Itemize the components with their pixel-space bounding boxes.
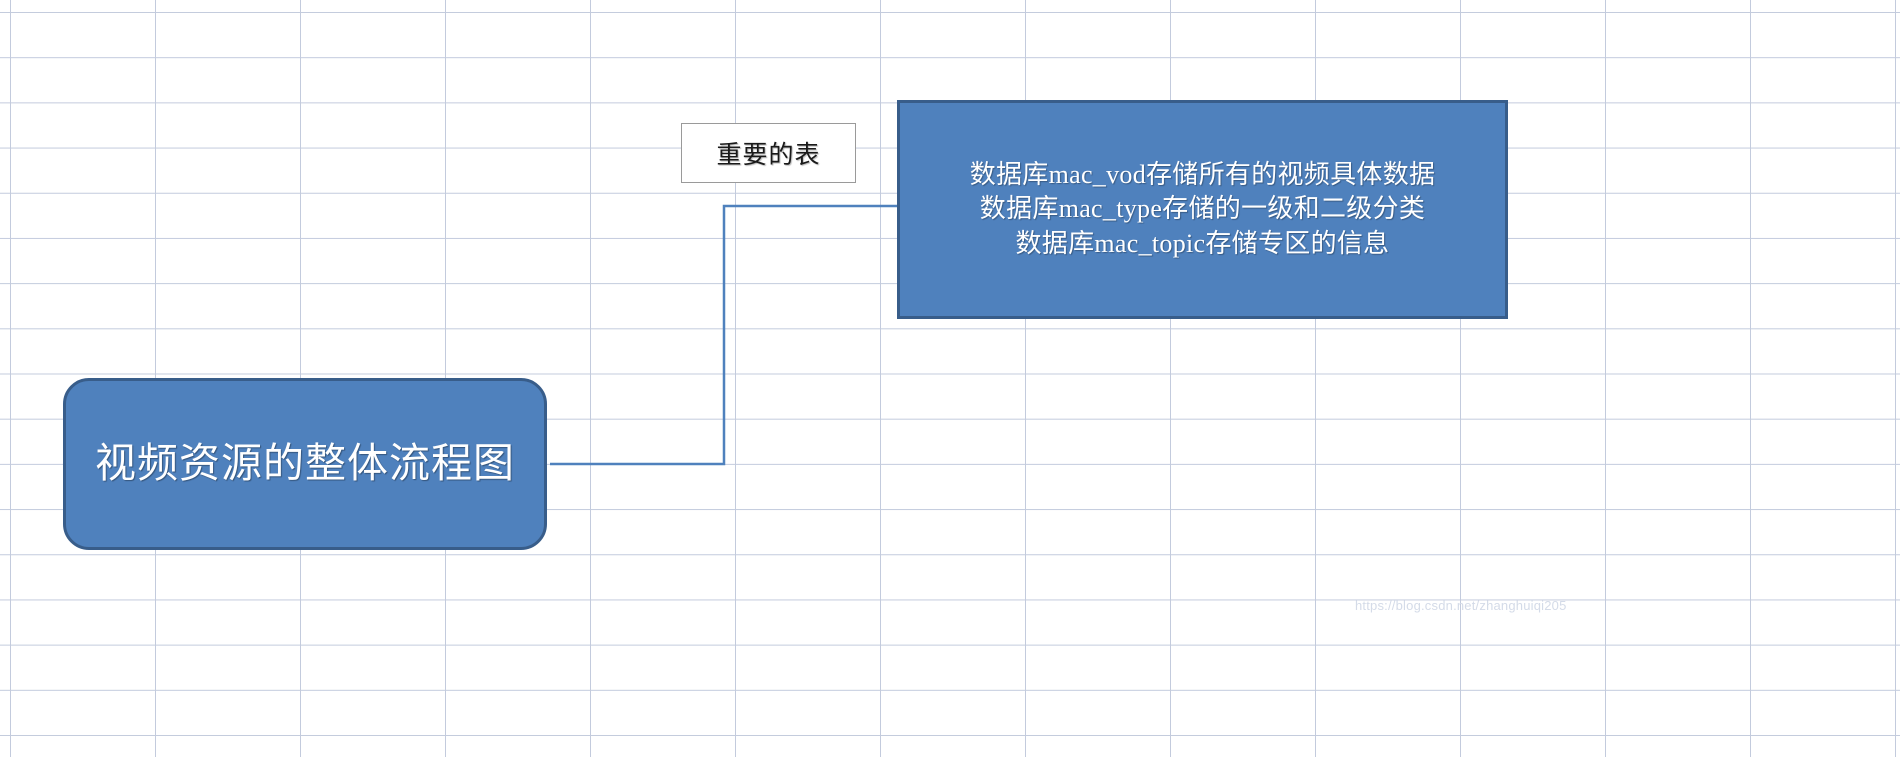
detail-line-1: 数据库mac_vod存储所有的视频具体数据 bbox=[970, 158, 1436, 193]
node-database-detail-text: 数据库mac_vod存储所有的视频具体数据 数据库mac_type存储的一级和二… bbox=[970, 158, 1436, 262]
node-database-detail[interactable]: 数据库mac_vod存储所有的视频具体数据 数据库mac_type存储的一级和二… bbox=[897, 100, 1508, 319]
node-start-flowchart[interactable]: 视频资源的整体流程图 bbox=[63, 378, 547, 550]
diagram-canvas: 视频资源的整体流程图 重要的表 数据库mac_vod存储所有的视频具体数据 数据… bbox=[0, 0, 1900, 757]
connector-label-text: 重要的表 bbox=[716, 135, 820, 171]
watermark-text: https://blog.csdn.net/zhanghuiqi205 bbox=[1355, 598, 1567, 613]
detail-line-2: 数据库mac_type存储的一级和二级分类 bbox=[970, 192, 1436, 227]
node-start-label: 视频资源的整体流程图 bbox=[95, 440, 515, 487]
detail-line-3: 数据库mac_topic存储专区的信息 bbox=[970, 227, 1436, 262]
connector-label-box[interactable]: 重要的表 bbox=[681, 123, 856, 183]
